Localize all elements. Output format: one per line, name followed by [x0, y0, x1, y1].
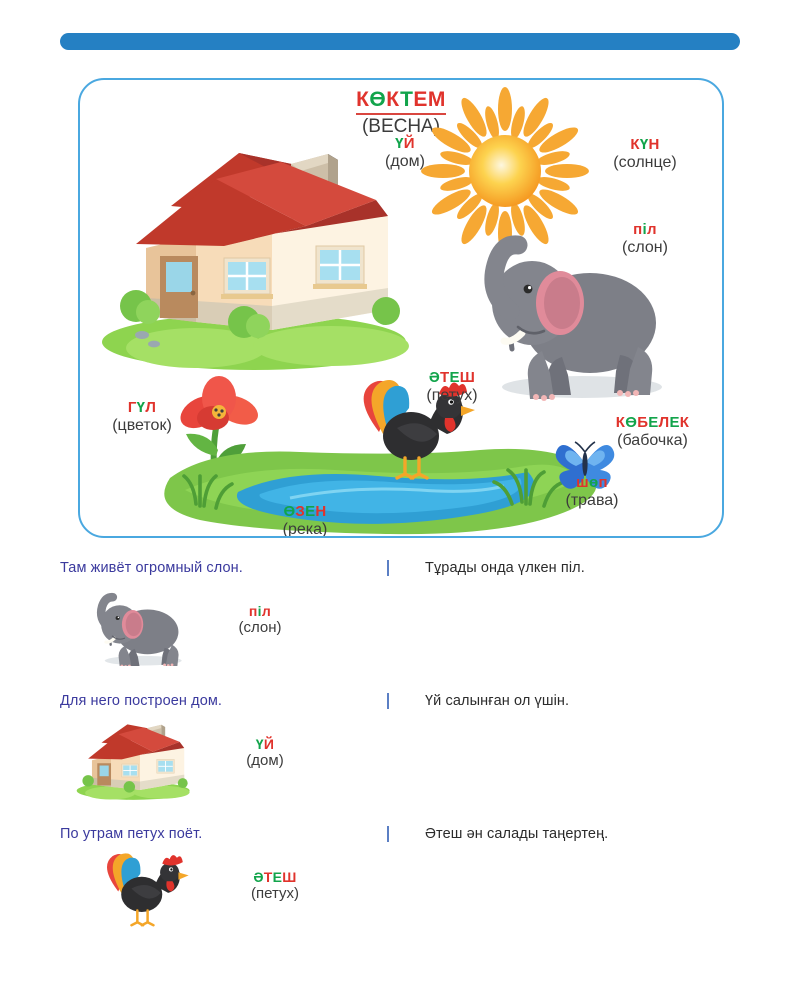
sentence-kazakh: Үй салынған ол үшін.: [425, 693, 569, 709]
label-sun-russian: (солнце): [580, 154, 710, 172]
label-butterfly: КӨБЕЛЕК (бабочка): [580, 415, 724, 450]
label-butterfly-kazakh: КӨБЕЛЕК: [580, 415, 724, 432]
illustration-card: КӨКТЕМ (ВЕСНА): [78, 78, 724, 538]
label-butterfly-russian: (бабочка): [580, 432, 724, 450]
label-grass-russian: (трава): [532, 492, 652, 510]
label-sun: КҮН (солнце): [580, 137, 710, 172]
worksheet-page: КӨКТЕМ (ВЕСНА): [0, 0, 800, 1000]
label-house-kazakh: ҮЙ: [350, 136, 460, 153]
label-river: ӨЗЕН (река): [245, 504, 365, 538]
label-grass: шөп (трава): [532, 475, 652, 510]
row-label-elephant-russian: (слон): [200, 620, 320, 637]
row-label-rooster-russian: (петух): [215, 886, 335, 903]
label-rooster: ӘТЕШ (петух): [392, 370, 512, 405]
label-elephant-kazakh: піл: [585, 222, 705, 239]
sentence-row: Для него построен дом. Үй салынған ол үш…: [0, 685, 800, 818]
row-divider: [387, 693, 389, 709]
label-elephant: піл (слон): [585, 222, 705, 257]
label-house-russian: (дом): [350, 153, 460, 171]
sentence-russian: Там живёт огромный слон.: [60, 560, 243, 576]
sentence-row: Там живёт огромный слон. Тұрады онда үлк…: [0, 552, 800, 685]
label-grass-kazakh: шөп: [532, 475, 652, 492]
row-label-house: ҮЙ (дом): [210, 737, 320, 769]
row-label-elephant-kazakh: піл: [200, 604, 320, 620]
rooster-mini-illustration: [76, 846, 206, 934]
label-rooster-kazakh: ӘТЕШ: [392, 370, 512, 387]
label-river-kazakh: ӨЗЕН: [245, 504, 365, 521]
row-label-house-kazakh: ҮЙ: [210, 737, 320, 753]
label-flower: ГҮЛ (цветок): [78, 400, 212, 435]
label-flower-kazakh: ГҮЛ: [78, 400, 212, 417]
label-river-russian: (река): [245, 521, 365, 538]
elephant-mini-illustration: [72, 586, 207, 666]
label-house: ҮЙ (дом): [350, 136, 460, 171]
sentence-kazakh: Әтеш ән салады таңертең.: [425, 826, 608, 842]
row-divider: [387, 826, 389, 842]
row-label-elephant: піл (слон): [200, 604, 320, 636]
row-label-house-russian: (дом): [210, 753, 320, 770]
row-label-rooster: ӘТЕШ (петух): [215, 870, 335, 902]
sentence-kazakh: Тұрады онда үлкен піл.: [425, 560, 585, 576]
label-rooster-russian: (петух): [392, 387, 512, 405]
page-footer: 6 https://kaz-tili.kz/: [0, 935, 800, 983]
row-label-rooster-kazakh: ӘТЕШ: [215, 870, 335, 886]
sentence-russian: Для него построен дом.: [60, 693, 222, 709]
label-sun-kazakh: КҮН: [580, 137, 710, 154]
label-flower-russian: (цветок): [78, 417, 212, 435]
top-decorative-bar: [60, 33, 740, 50]
label-elephant-russian: (слон): [585, 239, 705, 257]
sentence-row: По утрам петух поёт. Әтеш ән салады таңе…: [0, 818, 800, 951]
sentence-rows: Там живёт огромный слон. Тұрады онда үлк…: [0, 552, 800, 951]
sentence-russian: По утрам петух поёт.: [60, 826, 202, 842]
row-divider: [387, 560, 389, 576]
house-mini-illustration: [62, 719, 202, 801]
